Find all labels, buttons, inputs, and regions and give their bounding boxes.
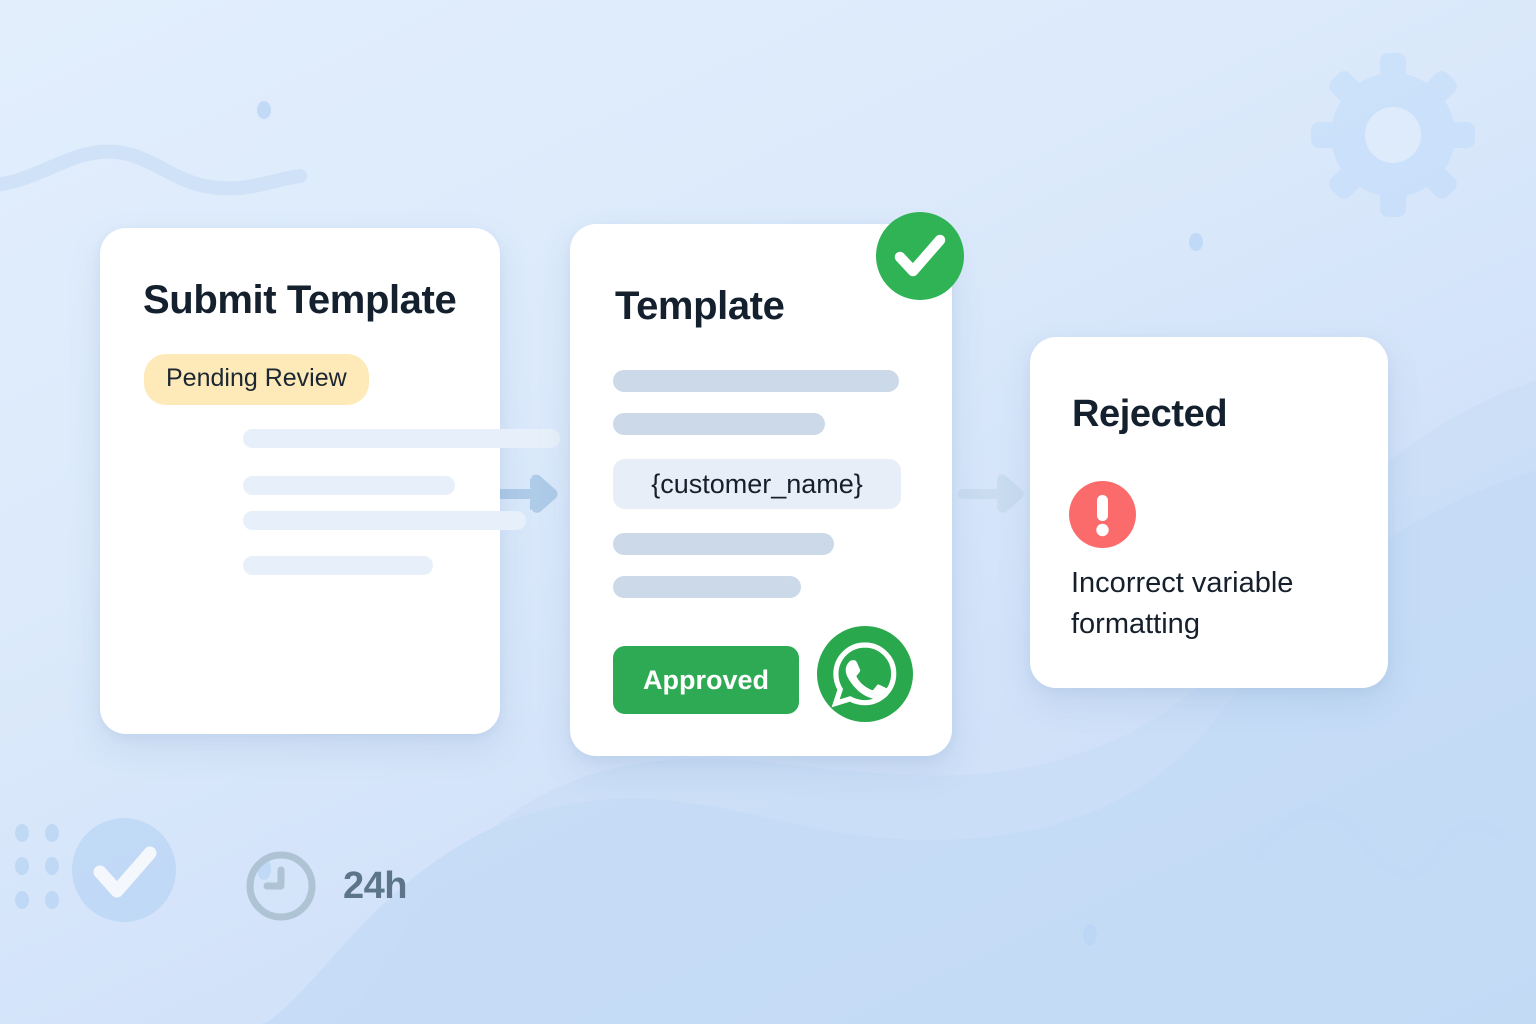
- whatsapp-icon[interactable]: [817, 626, 913, 722]
- skeleton-line: [243, 476, 455, 495]
- submit-template-card[interactable]: Submit Template Pending Review 24h: [100, 228, 500, 734]
- clock-icon: [243, 848, 319, 924]
- skeleton-line: [613, 576, 801, 598]
- variable-chip[interactable]: {customer_name}: [613, 459, 901, 509]
- alert-circle-icon: [1069, 481, 1136, 548]
- wave-line-top-left: [0, 152, 300, 189]
- check-circle-decoration: [72, 818, 176, 922]
- skeleton-line: [243, 556, 433, 575]
- gear-icon: [1311, 53, 1475, 217]
- skeleton-line: [243, 429, 560, 448]
- page-title-submit: Submit Template: [143, 278, 456, 323]
- illustration-canvas: Submit Template Pending Review 24h Templ…: [0, 0, 1536, 1024]
- status-badge-pending: Pending Review: [144, 354, 369, 405]
- page-title-template: Template: [615, 284, 784, 329]
- skeleton-line: [243, 511, 526, 530]
- arrow-right-icon-2: [958, 472, 1026, 516]
- check-circle-icon: [876, 212, 964, 300]
- approved-button[interactable]: Approved: [613, 646, 799, 714]
- wave-line-bottom-right: [1260, 812, 1500, 874]
- page-title-rejected: Rejected: [1072, 393, 1227, 436]
- sla-row: 24h: [243, 848, 407, 924]
- rejection-reason-text: Incorrect variable formatting: [1071, 563, 1341, 645]
- skeleton-line: [613, 370, 899, 392]
- skeleton-line: [613, 413, 825, 435]
- sla-label: 24h: [343, 865, 407, 908]
- skeleton-line: [613, 533, 834, 555]
- arrow-right-icon-1: [492, 472, 560, 516]
